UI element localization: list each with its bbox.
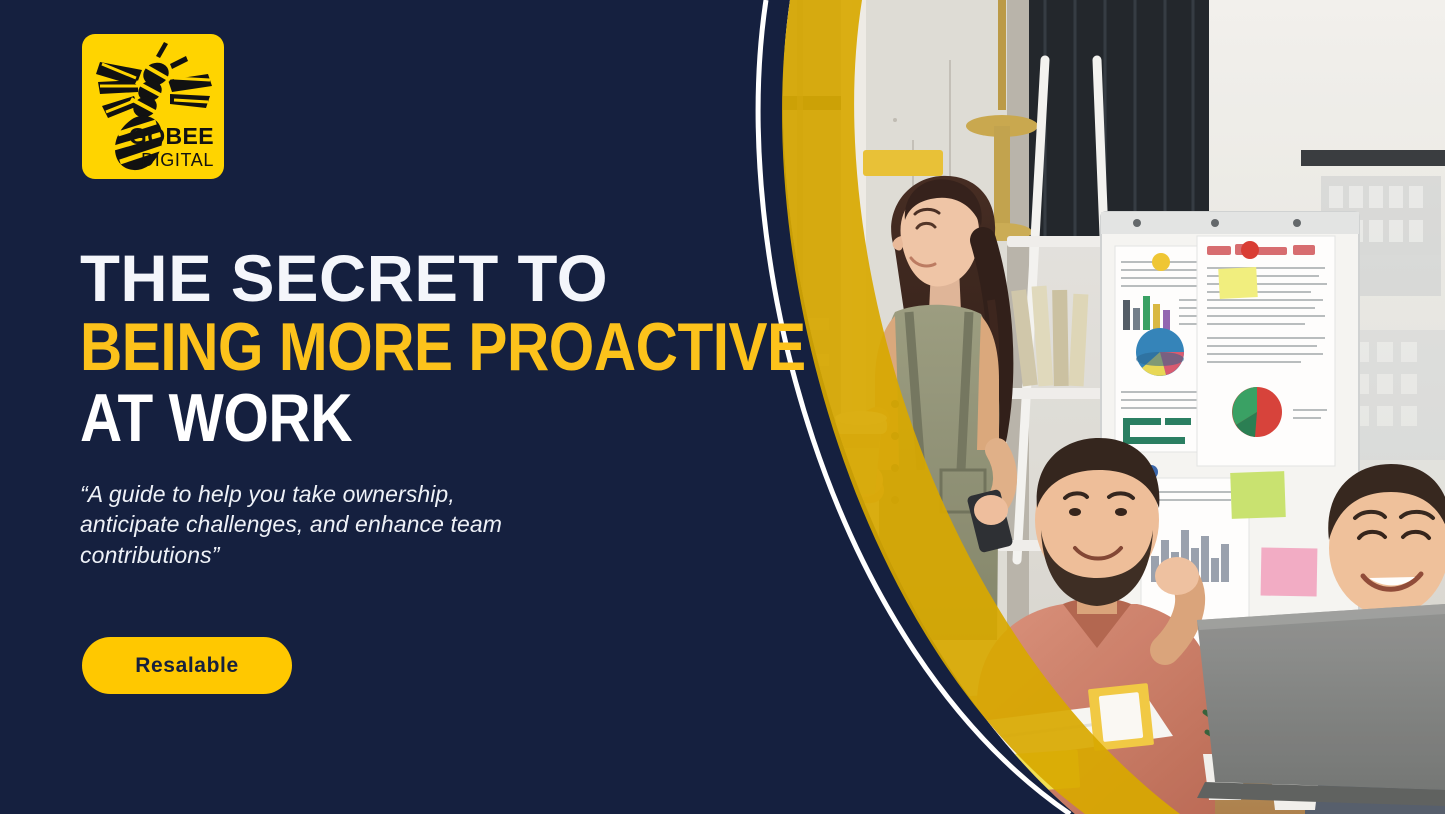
headline-line-1: THE SECRET TO: [80, 248, 773, 309]
office-photo-illustration: [745, 0, 1445, 814]
subtitle-quote: “A guide to help you take ownership, ant…: [80, 479, 510, 570]
gobee-digital-logo[interactable]: GOBEE DIGITAL: [82, 34, 224, 179]
headline-line-3: AT WORK: [80, 387, 682, 450]
logo-name: GOBEE: [129, 125, 214, 148]
logo-subtitle: DIGITAL: [129, 151, 214, 169]
logo-wordmark: GOBEE DIGITAL: [129, 125, 214, 169]
office-team-photo: [745, 0, 1445, 814]
resalable-button[interactable]: Resalable: [82, 637, 292, 694]
headline-line-2: BEING MORE PROACTIVE: [80, 316, 682, 379]
promotional-banner: GOBEE DIGITAL THE SECRET TO BEING MORE P…: [0, 0, 1445, 814]
page-title: THE SECRET TO BEING MORE PROACTIVE AT WO…: [80, 248, 780, 450]
